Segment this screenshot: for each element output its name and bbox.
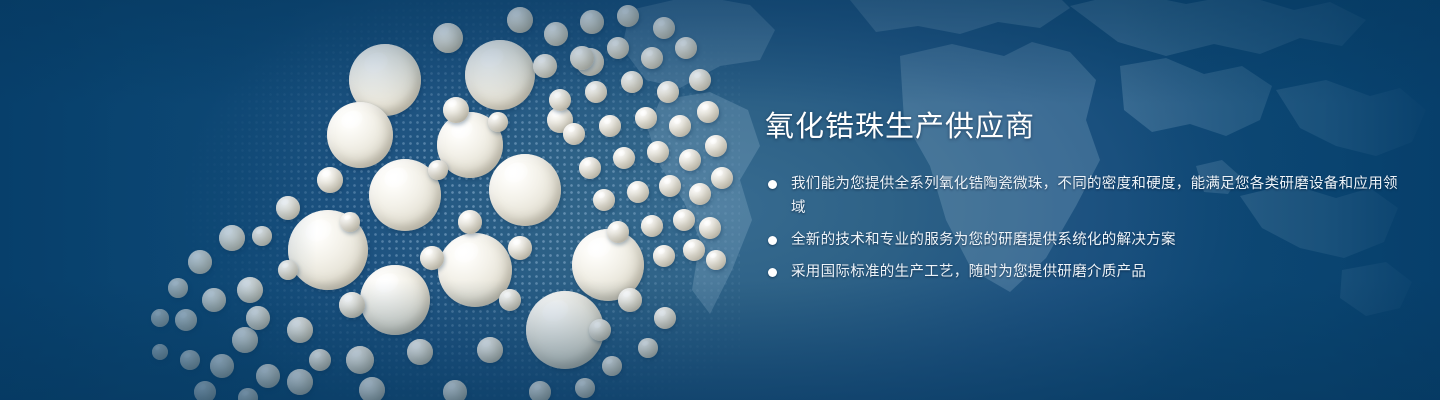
page-title: 氧化锆珠生产供应商 [765,108,1405,146]
list-item-text: 全新的技术和专业的服务为您的研磨提供系统化的解决方案 [791,232,1176,248]
list-item-text: 我们能为您提供全系列氧化锆陶瓷微珠，不同的密度和硬度，能满足您各类研磨设备和应用… [791,176,1398,216]
bullet-dot-icon [768,180,777,189]
list-item: 全新的技术和专业的服务为您的研磨提供系统化的解决方案 [765,228,1405,252]
bullet-dot-icon [768,268,777,277]
bullet-dot-icon [768,236,777,245]
list-item: 采用国际标准的生产工艺，随时为您提供研磨介质产品 [765,260,1405,284]
banner-content: 氧化锆珠生产供应商 我们能为您提供全系列氧化锆陶瓷微珠，不同的密度和硬度，能满足… [765,108,1405,284]
feature-list: 我们能为您提供全系列氧化锆陶瓷微珠，不同的密度和硬度，能满足您各类研磨设备和应用… [765,172,1405,284]
hero-banner: 氧化锆珠生产供应商 我们能为您提供全系列氧化锆陶瓷微珠，不同的密度和硬度，能满足… [0,0,1440,400]
list-item-text: 采用国际标准的生产工艺，随时为您提供研磨介质产品 [791,264,1146,280]
list-item: 我们能为您提供全系列氧化锆陶瓷微珠，不同的密度和硬度，能满足您各类研磨设备和应用… [765,172,1405,220]
